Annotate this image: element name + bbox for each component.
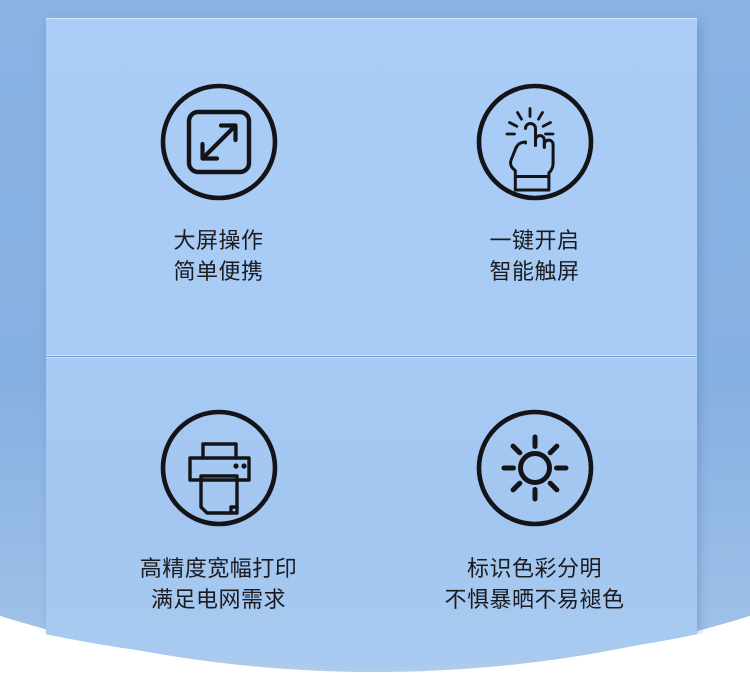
caption-line-2: 智能触屏 bbox=[489, 257, 579, 288]
caption-line-1: 标识色彩分明 bbox=[444, 554, 624, 585]
sun-brightness-icon bbox=[473, 406, 597, 530]
feature-caption: 高精度宽幅打印 满足电网需求 bbox=[140, 554, 298, 616]
caption-line-2: 满足电网需求 bbox=[140, 585, 298, 616]
feature-poster: 大屏操作 简单便携 bbox=[0, 0, 750, 700]
caption-line-1: 一键开启 bbox=[489, 226, 579, 257]
caption-line-1: 大屏操作 bbox=[173, 226, 263, 257]
caption-line-2: 不惧暴晒不易褪色 bbox=[444, 585, 624, 616]
touch-tap-hand-icon bbox=[473, 80, 597, 204]
printer-icon bbox=[157, 406, 281, 530]
feature-caption: 一键开启 智能触屏 bbox=[489, 226, 579, 288]
feature-item-touch-screen: 一键开启 智能触屏 bbox=[372, 18, 697, 338]
feature-item-big-screen: 大屏操作 简单便携 bbox=[56, 18, 381, 338]
caption-line-1: 高精度宽幅打印 bbox=[140, 554, 298, 585]
feature-item-printing: 高精度宽幅打印 满足电网需求 bbox=[56, 358, 381, 678]
feature-caption: 标识色彩分明 不惧暴晒不易褪色 bbox=[444, 554, 624, 616]
expand-screen-icon bbox=[157, 80, 281, 204]
feature-caption: 大屏操作 简单便携 bbox=[173, 226, 263, 288]
feature-grid: 大屏操作 简单便携 bbox=[46, 18, 697, 658]
caption-line-2: 简单便携 bbox=[173, 257, 263, 288]
feature-item-color-fastness: 标识色彩分明 不惧暴晒不易褪色 bbox=[372, 358, 697, 678]
